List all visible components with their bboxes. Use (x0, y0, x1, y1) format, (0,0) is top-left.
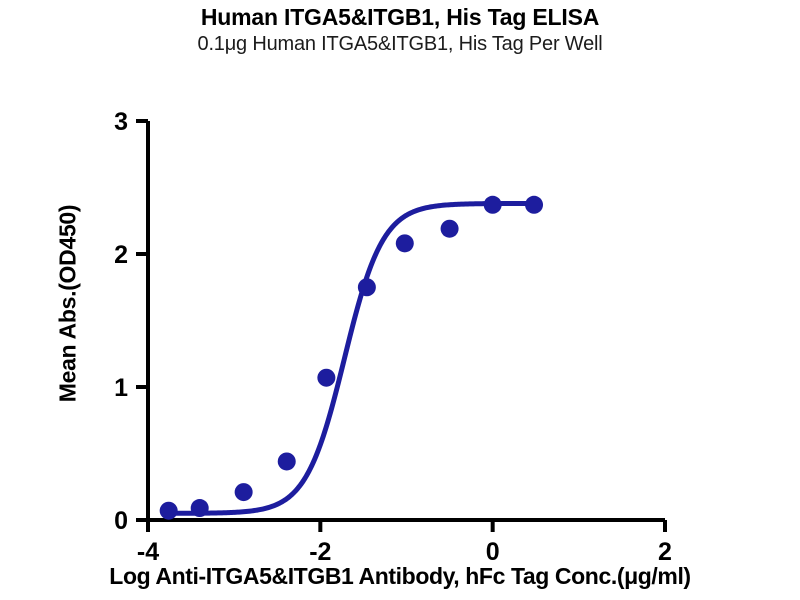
data-point (278, 452, 296, 470)
data-point (441, 220, 459, 238)
plot-area: 0123 -4-202 (0, 0, 800, 600)
x-tick-label: -2 (309, 538, 331, 566)
data-point (317, 369, 335, 387)
axes-group (148, 121, 665, 520)
y-tick-label: 0 (114, 507, 128, 535)
data-point (396, 234, 414, 252)
data-points-group (160, 196, 543, 520)
y-tick-label: 1 (114, 374, 128, 402)
x-tick-label: 2 (658, 538, 672, 566)
data-point (525, 196, 543, 214)
data-point (235, 483, 253, 501)
data-point (358, 278, 376, 296)
x-tick-label: 0 (486, 538, 500, 566)
y-axis-ticks: 0123 (114, 108, 148, 535)
data-point (484, 196, 502, 214)
data-point (191, 499, 209, 517)
x-axis-ticks: -4-202 (137, 520, 672, 566)
fit-curve (169, 203, 534, 513)
y-tick-label: 3 (114, 108, 128, 136)
elisa-chart-figure: Human ITGA5&ITGB1, His Tag ELISA 0.1μg H… (0, 0, 800, 600)
x-tick-label: -4 (137, 538, 159, 566)
data-point (160, 502, 178, 520)
y-tick-label: 2 (114, 241, 128, 269)
